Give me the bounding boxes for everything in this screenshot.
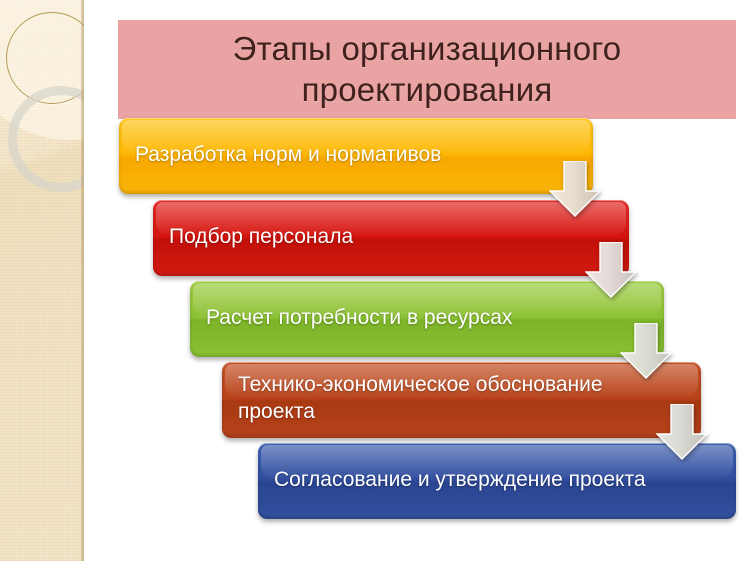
stage-bar-5-label: Согласование и утверждение проекта xyxy=(274,467,646,494)
arrow-down-icon-1 xyxy=(549,161,601,217)
slide-canvas: Этапы организационного проектирования Ра… xyxy=(0,0,750,561)
stage-bar-3-label: Расчет потребности в ресурсах xyxy=(206,305,512,332)
stage-bar-1[interactable]: Разработка норм и нормативов xyxy=(119,118,593,194)
arrow-down-icon-2 xyxy=(585,242,637,298)
arrow-down-icon-4 xyxy=(656,404,708,460)
stage-bar-2-label: Подбор персонала xyxy=(169,224,353,251)
stage-bar-1-label: Разработка норм и нормативов xyxy=(135,142,441,169)
title-banner: Этапы организационного проектирования xyxy=(118,20,736,119)
arrow-down-icon-3 xyxy=(620,323,672,379)
decorative-sidebar xyxy=(0,0,84,561)
stage-bar-4-label: Технико-экономическое обоснование проект… xyxy=(238,372,685,426)
sidebar-edge-line xyxy=(81,0,84,561)
page-title: Этапы организационного проектирования xyxy=(132,29,722,110)
